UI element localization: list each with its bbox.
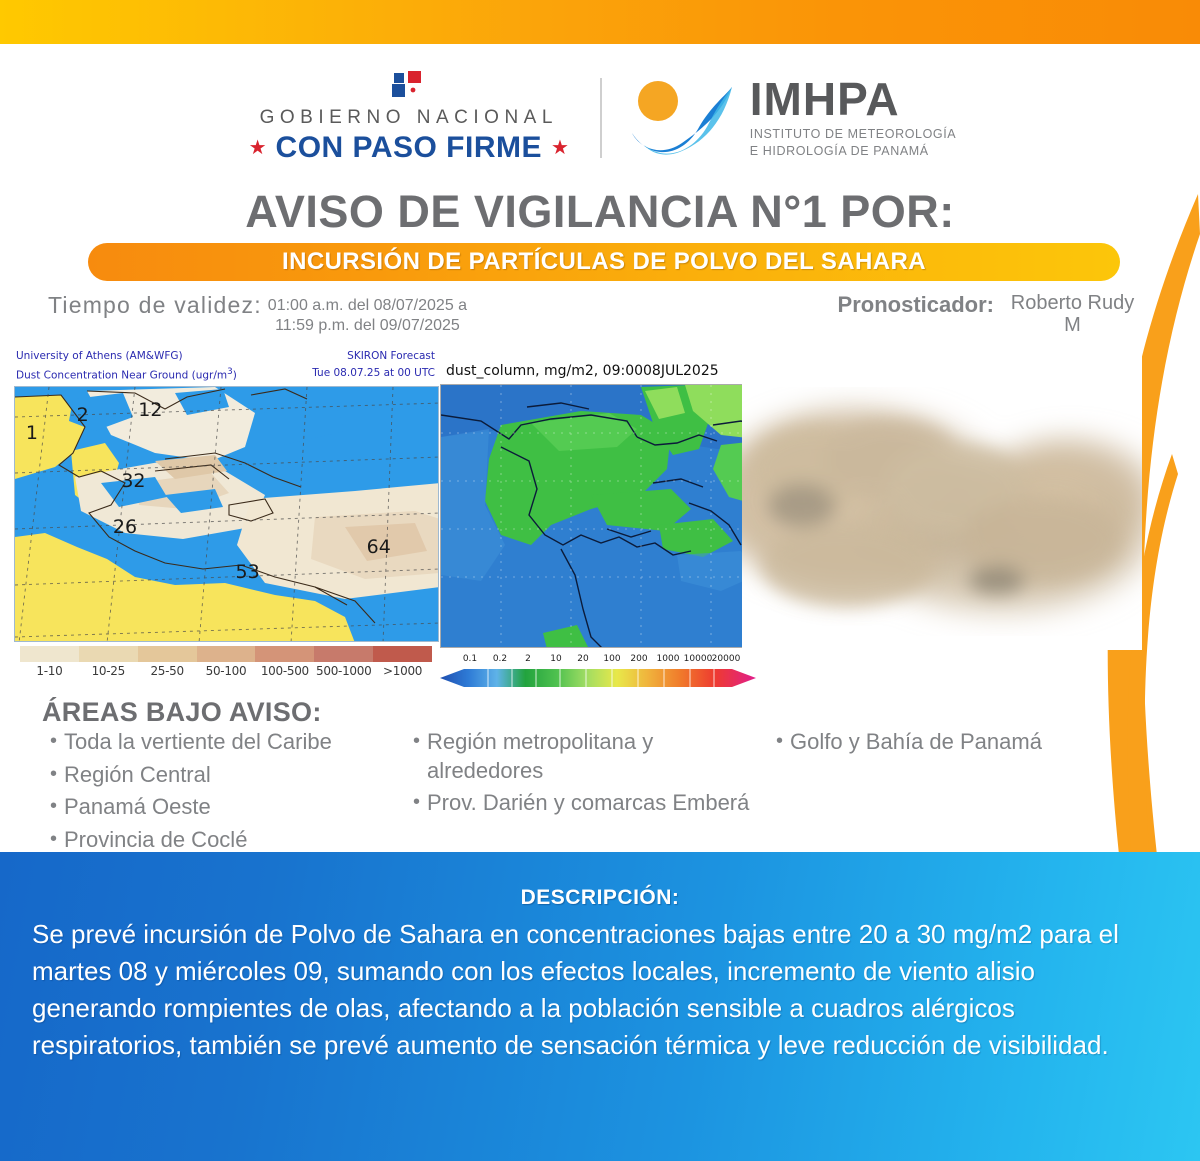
map-value-label: 2 <box>77 404 89 426</box>
forecaster-label: Pronosticador: <box>838 292 994 318</box>
skiron-validtime-label: Tue 08.07.25 at 00 UTC <box>312 367 435 379</box>
description-text: Se prevé incursión de Polvo de Sahara en… <box>32 916 1142 1064</box>
legend-swatch <box>197 646 256 662</box>
area-list-item: Región Central <box>48 761 411 790</box>
area-list-item: Toda la vertiente del Caribe <box>48 728 411 757</box>
skiron-dust-concentration-map: University of Athens (AM&WFG) Dust Conce… <box>14 348 439 678</box>
map-value-label: 53 <box>236 561 260 583</box>
map-value-label: 1 <box>26 422 38 444</box>
dust-column-legend-labels: 0.10.22102010020010001000020000 <box>440 654 756 667</box>
dust-column-colorbar <box>440 667 756 689</box>
area-list-item: Provincia de Coclé <box>48 826 411 855</box>
areas-column: Región metropolitana y alrededoresProv. … <box>411 728 774 858</box>
header-logos: GOBIERNO NACIONAL ★ CON PASO FIRME ★ IMH… <box>0 58 1200 178</box>
advisory-subject-text: INCURSIÓN DE PARTÍCULAS DE POLVO DEL SAH… <box>282 248 926 276</box>
skiron-legend-labels: 1-1010-2525-5050-100100-500500-1000>1000 <box>20 664 432 678</box>
dust-column-legend: 0.10.22102010020010001000020000 <box>440 654 756 690</box>
skiron-map-canvas: 121232265364 <box>14 386 439 642</box>
imhpa-logo: IMHPA INSTITUTO DE METEOROLOGÍA E HIDROL… <box>628 75 956 161</box>
imhpa-subtitle-line1: INSTITUTO DE METEOROLOGÍA <box>750 126 956 143</box>
area-list-item: Panamá Oeste <box>48 793 411 822</box>
description-heading: DESCRIPCIÓN: <box>0 886 1200 910</box>
dust-column-map-graphic <box>441 385 756 648</box>
validity-end: 11:59 p.m. del 09/07/2025 <box>275 317 460 334</box>
gov-tagline-main: CON PASO FIRME <box>276 131 542 165</box>
legend-label: 50-100 <box>197 664 256 678</box>
skiron-map-header: University of Athens (AM&WFG) Dust Conce… <box>14 348 439 386</box>
colorbar-tick-label: 10000 <box>684 654 713 664</box>
legend-label: >1000 <box>373 664 432 678</box>
skiron-source-label: University of Athens (AM&WFG) <box>16 350 183 362</box>
areas-column: Golfo y Bahía de Panamá <box>774 728 1137 858</box>
dust-cloud-photo <box>742 350 1142 650</box>
legend-label: 500-1000 <box>314 664 373 678</box>
advisory-subject-banner: INCURSIÓN DE PARTÍCULAS DE POLVO DEL SAH… <box>88 243 1120 281</box>
dust-cloud-graphic <box>742 350 1142 650</box>
areas-column: Toda la vertiente del CaribeRegión Centr… <box>48 728 411 858</box>
colorbar-tick-label: 100 <box>603 654 620 664</box>
legend-label: 10-25 <box>79 664 138 678</box>
skiron-legend: 1-1010-2525-5050-100100-500500-1000>1000 <box>14 646 439 678</box>
header-divider <box>600 78 602 158</box>
legend-swatch <box>138 646 197 662</box>
area-list-item: Golfo y Bahía de Panamá <box>774 728 1137 757</box>
forecaster-block: Pronosticador: Roberto Rudy M <box>838 292 1145 336</box>
advisory-meta: Tiempo de validez: 01:00 a.m. del 08/07/… <box>0 292 1200 342</box>
dust-column-title: dust_column, mg/m2, 09:0008JUL2025 <box>440 358 756 384</box>
imhpa-subtitle-line2: E HIDROLOGÍA DE PANAMÁ <box>750 143 956 160</box>
dust-column-map: dust_column, mg/m2, 09:0008JUL2025 <box>440 358 756 690</box>
colorbar-tick-label: 10 <box>550 654 561 664</box>
star-icon-right: ★ <box>551 138 569 158</box>
colorbar-tick-label: 20000 <box>712 654 741 664</box>
area-list-item: Prov. Darién y comarcas Emberá <box>411 789 774 818</box>
legend-swatch <box>255 646 314 662</box>
colorbar-tick-label: 0.2 <box>493 654 507 664</box>
colorbar-tick-label: 1000 <box>657 654 680 664</box>
validity-label: Tiempo de validez: <box>48 292 262 319</box>
legend-swatch <box>314 646 373 662</box>
description-panel: DESCRIPCIÓN: Se prevé incursión de Polvo… <box>0 852 1200 1161</box>
colorbar-tick-label: 2 <box>525 654 531 664</box>
legend-label: 1-10 <box>20 664 79 678</box>
colorbar-tick-label: 0.1 <box>463 654 477 664</box>
imhpa-wave-sun-icon <box>628 75 736 161</box>
star-icon-left: ★ <box>249 138 267 158</box>
imhpa-acronym: IMHPA <box>750 76 956 122</box>
skiron-variable-label: Dust Concentration Near Ground (ugr/m3) <box>16 367 237 382</box>
gov-tagline-top: GOBIERNO NACIONAL <box>260 107 558 129</box>
legend-swatch <box>373 646 432 662</box>
panama-flag-icon <box>386 71 432 101</box>
page-title: AVISO DE VIGILANCIA N°1 POR: <box>0 186 1200 238</box>
colorbar-tick-label: 20 <box>577 654 588 664</box>
dust-column-map-canvas <box>440 384 756 648</box>
skiron-model-label: SKIRON Forecast <box>347 350 435 362</box>
skiron-legend-swatches <box>20 646 432 662</box>
areas-heading: ÁREAS BAJO AVISO: <box>42 697 322 728</box>
forecaster-name: Roberto Rudy M <box>1000 292 1145 336</box>
legend-label: 25-50 <box>138 664 197 678</box>
top-accent-bar <box>0 0 1200 44</box>
map-value-label: 12 <box>138 399 162 421</box>
gobierno-nacional-logo: GOBIERNO NACIONAL ★ CON PASO FIRME ★ <box>244 71 574 165</box>
map-value-label: 26 <box>113 516 137 538</box>
map-value-label: 32 <box>121 470 145 492</box>
areas-list: Toda la vertiente del CaribeRegión Centr… <box>48 728 1138 858</box>
validity-start: 01:00 a.m. del 08/07/2025 a <box>268 297 467 314</box>
colorbar-tick-label: 200 <box>630 654 647 664</box>
area-list-item: Región metropolitana y alrededores <box>411 728 774 785</box>
legend-swatch <box>20 646 79 662</box>
legend-swatch <box>79 646 138 662</box>
legend-label: 100-500 <box>255 664 314 678</box>
map-value-label: 64 <box>367 536 391 558</box>
validity-block: Tiempo de validez: 01:00 a.m. del 08/07/… <box>48 292 467 336</box>
